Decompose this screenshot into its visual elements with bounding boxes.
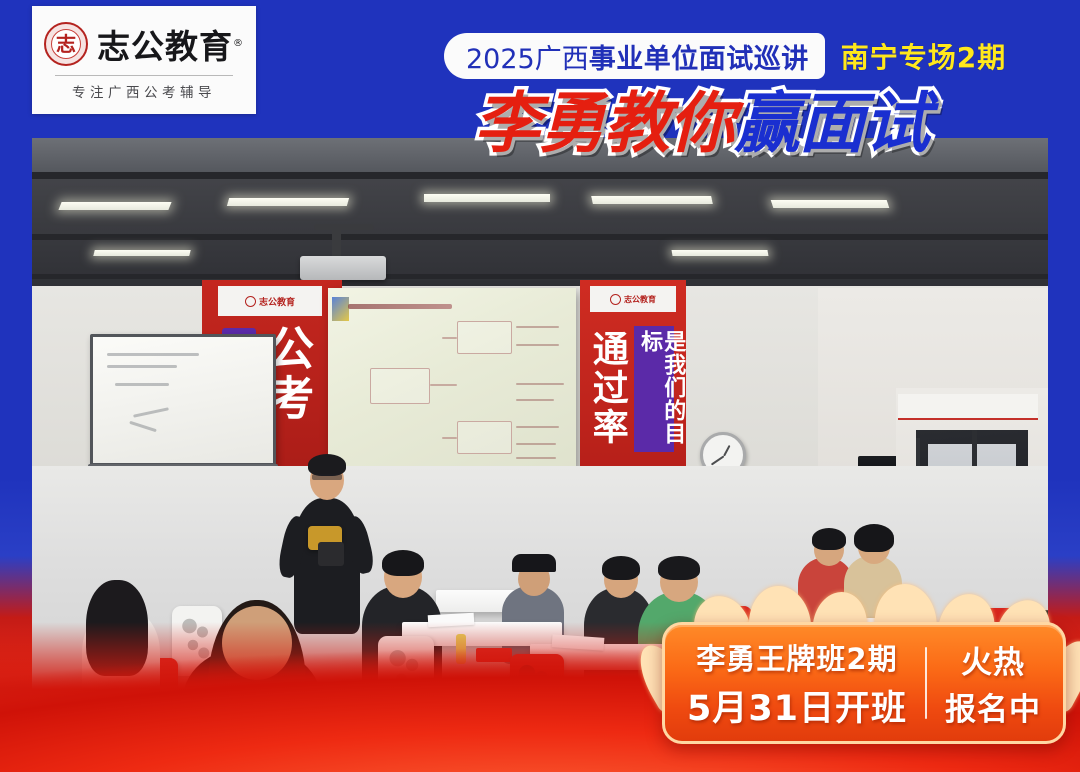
registered-mark: ®	[233, 38, 244, 49]
student-hair	[382, 550, 424, 576]
badge-content: 李勇王牌班2期 5月31日开班 火热 报名中	[662, 622, 1066, 744]
headline-blue-part: 赢面试	[734, 91, 929, 157]
brand-name: 志公教育®	[97, 20, 244, 68]
chair	[378, 636, 434, 706]
ceiling-light	[424, 194, 550, 202]
brand-logo-card: 志 志公教育® 专注广西公考辅导	[32, 6, 256, 114]
poster-headline: 李勇教你 赢面试	[474, 84, 929, 164]
event-year-region: 2025广西	[466, 37, 589, 76]
ceiling-beam	[32, 274, 1048, 279]
ceiling-light	[591, 196, 713, 204]
teacher-hand	[318, 542, 344, 566]
student-hair	[658, 556, 700, 580]
foreground-student-head	[222, 606, 292, 680]
divider	[55, 75, 233, 76]
ceiling-beam	[32, 172, 1048, 179]
event-banner: 2025广西 事业单位面试巡讲 南宁专场2期	[444, 33, 1016, 79]
event-name: 事业单位面试巡讲	[589, 37, 809, 76]
projection-screen	[328, 288, 576, 470]
badge-class-name: 李勇王牌班2期	[696, 636, 897, 678]
ceiling-beam	[32, 234, 1048, 240]
student-hair	[602, 556, 640, 580]
brand-name-text: 志公教育	[97, 27, 233, 66]
brand-tagline: 专注广西公考辅导	[72, 81, 216, 101]
mindmap-node	[457, 421, 512, 454]
student-hair	[86, 580, 148, 676]
projector-rail	[314, 224, 374, 230]
slide-title-bar	[348, 304, 452, 309]
whiteboard	[90, 334, 276, 466]
teacher-hair	[308, 454, 346, 476]
badge-start-date: 5月31日开班	[687, 680, 907, 731]
teacher-glasses	[312, 474, 342, 480]
wall-banner-pass-rate: 通过率	[588, 330, 626, 480]
session-tag: 南宁专场2期	[825, 33, 1016, 79]
event-banner-pill: 2025广西 事业单位面试巡讲	[444, 33, 825, 79]
enrollment-badge[interactable]: 李勇王牌班2期 5月31日开班 火热 报名中	[662, 622, 1066, 744]
wall-banner-right: 志公教育 通过率 是我们的目标	[580, 280, 686, 496]
wall-logo-left: 志公教育	[218, 286, 322, 316]
red-folder	[476, 648, 512, 662]
projector-mount	[332, 226, 341, 260]
ceiling-light	[771, 200, 890, 208]
projector	[300, 256, 386, 280]
student-hair	[854, 524, 894, 552]
chair	[510, 654, 564, 706]
seal-icon	[610, 294, 621, 305]
ceiling-light	[93, 250, 190, 256]
badge-enroll-label: 报名中	[945, 684, 1041, 729]
seal-icon: 志	[44, 22, 88, 66]
ceiling-light	[58, 202, 171, 210]
mindmap-node	[457, 321, 512, 354]
slide-accent	[332, 297, 349, 321]
badge-right: 火热 报名中	[945, 637, 1041, 729]
headline-red-part: 李勇教你	[474, 91, 734, 157]
paper	[428, 613, 475, 627]
seal-icon	[245, 296, 256, 307]
student-cap	[512, 554, 556, 572]
badge-left: 李勇王牌班2期 5月31日开班	[687, 636, 907, 731]
wall-logo-right: 志公教育	[590, 286, 676, 312]
logo-row: 志 志公教育®	[44, 20, 244, 68]
poster-canvas: 志公教育 公考	[0, 0, 1080, 772]
bottle	[456, 634, 466, 664]
student-hair	[812, 528, 846, 550]
ceiling-light	[227, 198, 349, 206]
wall-logo-text: 志公教育	[624, 294, 656, 305]
wall-logo-text: 志公教育	[259, 295, 295, 308]
seal-character: 志	[46, 24, 86, 64]
badge-divider	[925, 647, 927, 719]
mindmap-root-node	[370, 368, 430, 404]
wall-banner-goal: 是我们的目标	[638, 330, 684, 448]
door-header-sign	[898, 394, 1038, 420]
badge-hot-label: 火热	[961, 637, 1025, 682]
ceiling-light	[671, 250, 768, 256]
